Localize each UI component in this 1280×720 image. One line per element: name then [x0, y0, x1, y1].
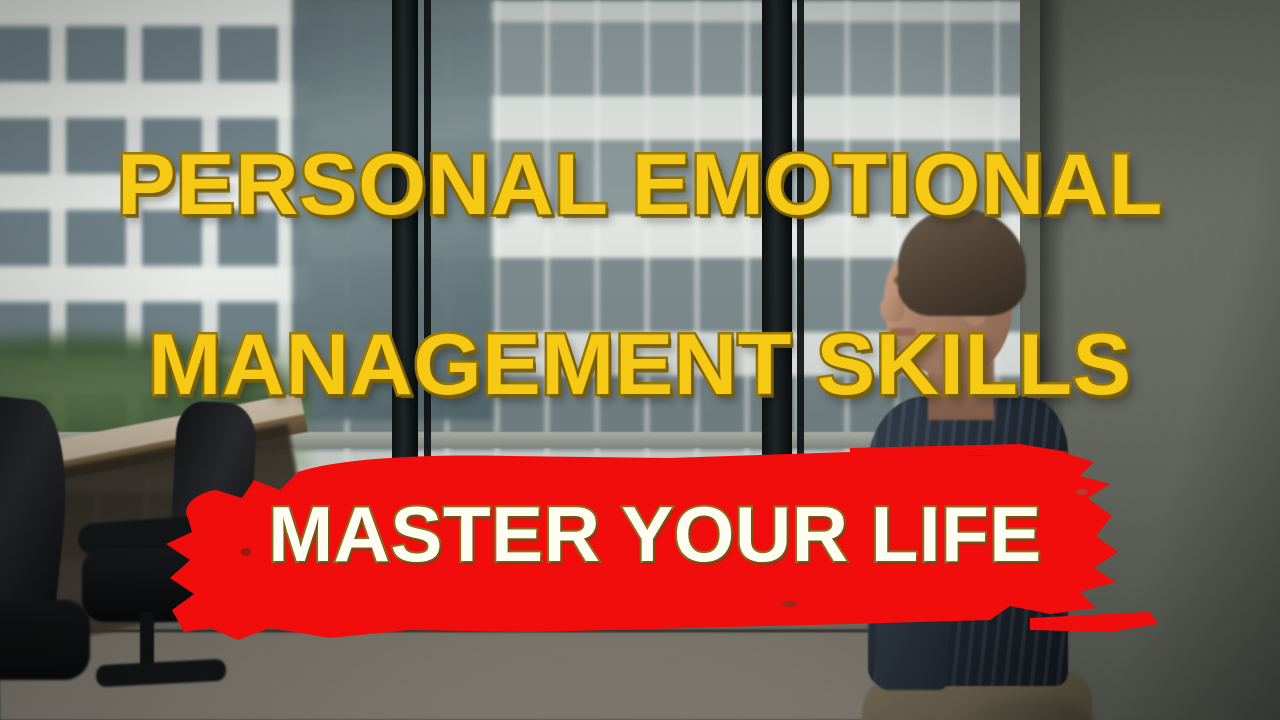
brush-wisp-bottom-right [1030, 612, 1158, 632]
headline-line-1: PERSONAL EMOTIONAL [0, 142, 1280, 228]
video-thumbnail: PERSONAL EMOTIONAL MANAGEMENT SKILLS MAS… [0, 0, 1280, 720]
headline-line-2: MANAGEMENT SKILLS [0, 322, 1280, 408]
brush-fleck-2 [782, 601, 798, 607]
subheadline-text: MASTER YOUR LIFE [150, 495, 1160, 573]
office-chair-seat-near [0, 600, 90, 680]
